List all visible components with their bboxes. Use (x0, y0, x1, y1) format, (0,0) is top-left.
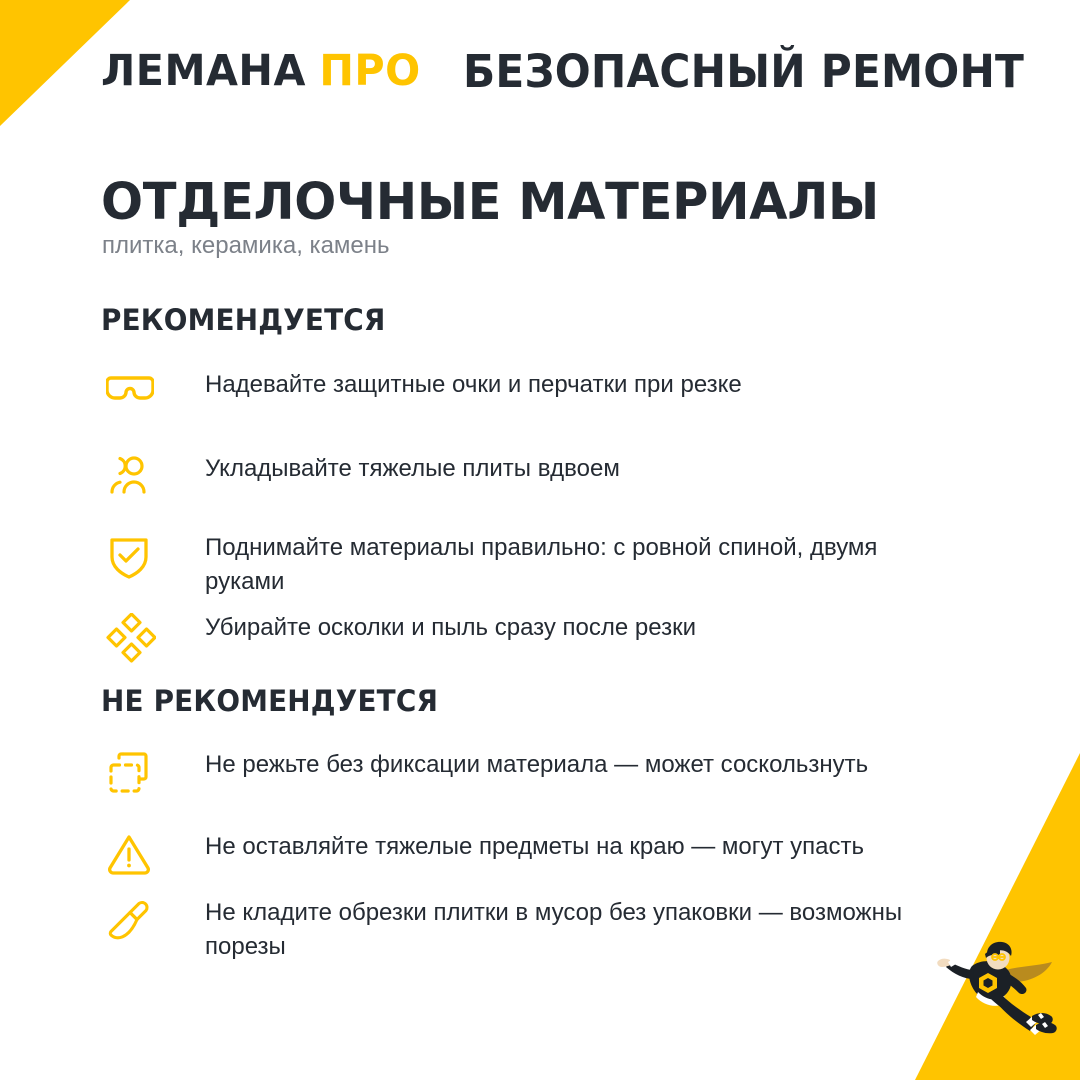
not-recommended-list: Не режьте без фиксации материала — может… (101, 748, 981, 976)
section-heading-recommended: РЕКОМЕНДУЕТСЯ (101, 303, 946, 337)
warning-triangle-icon (101, 830, 159, 886)
page-title: ОТДЕЛОЧНЫЕ МАТЕРИАЛЫ (101, 173, 879, 232)
list-item-text: Не режьте без фиксации материала — может… (159, 748, 868, 782)
recommended-list: Надевайте защитные очки и перчатки при р… (101, 368, 981, 679)
logo-accent-text: ПРО (319, 46, 420, 96)
two-people-icon (101, 452, 159, 508)
header: ЛЕМАНА ПРО БЕЗОПАСНЫЙ РЕМОНТ (0, 0, 1080, 128)
section-not-recommended: НЕ РЕКОМЕНДУЕТСЯ Не режьте без фиксации … (101, 684, 981, 718)
brand-logo: ЛЕМАНА ПРО (101, 46, 421, 96)
logo-primary-text: ЛЕМАНА (101, 46, 306, 96)
unfixed-material-icon (101, 748, 159, 804)
list-item-text: Укладывайте тяжелые плиты вдвоем (159, 452, 620, 486)
shield-check-icon (101, 531, 159, 587)
section-heading-not-recommended: НЕ РЕКОМЕНДУЕТСЯ (101, 684, 946, 718)
list-item-text: Убирайте осколки и пыль сразу после резк… (159, 611, 696, 645)
list-item: Убирайте осколки и пыль сразу после резк… (101, 611, 981, 667)
list-item: Поднимайте материалы правильно: с ровной… (101, 531, 981, 599)
page-subtitle: плитка, керамика, камень (102, 232, 390, 260)
campaign-title: БЕЗОПАСНЫЙ РЕМОНТ (463, 45, 1024, 98)
list-item-text: Надевайте защитные очки и перчатки при р… (159, 368, 742, 402)
flying-superhero-mascot (934, 936, 1064, 1041)
list-item: Не оставляйте тяжелые предметы на краю —… (101, 830, 981, 886)
list-item: Не режьте без фиксации материала — может… (101, 748, 981, 804)
list-item-text: Поднимайте материалы правильно: с ровной… (159, 531, 959, 599)
knife-icon (101, 896, 159, 952)
list-item: Надевайте защитные очки и перчатки при р… (101, 368, 981, 424)
list-item-text: Не оставляйте тяжелые предметы на краю —… (159, 830, 864, 864)
list-item-text: Не кладите обрезки плитки в мусор без уп… (159, 896, 959, 964)
list-item: Не кладите обрезки плитки в мусор без уп… (101, 896, 981, 964)
section-recommended: РЕКОМЕНДУЕТСЯ Надевайте защитные очки и … (101, 303, 981, 337)
safety-goggles-icon (101, 368, 159, 424)
list-item: Укладывайте тяжелые плиты вдвоем (101, 452, 981, 508)
four-diamonds-icon (101, 611, 159, 667)
